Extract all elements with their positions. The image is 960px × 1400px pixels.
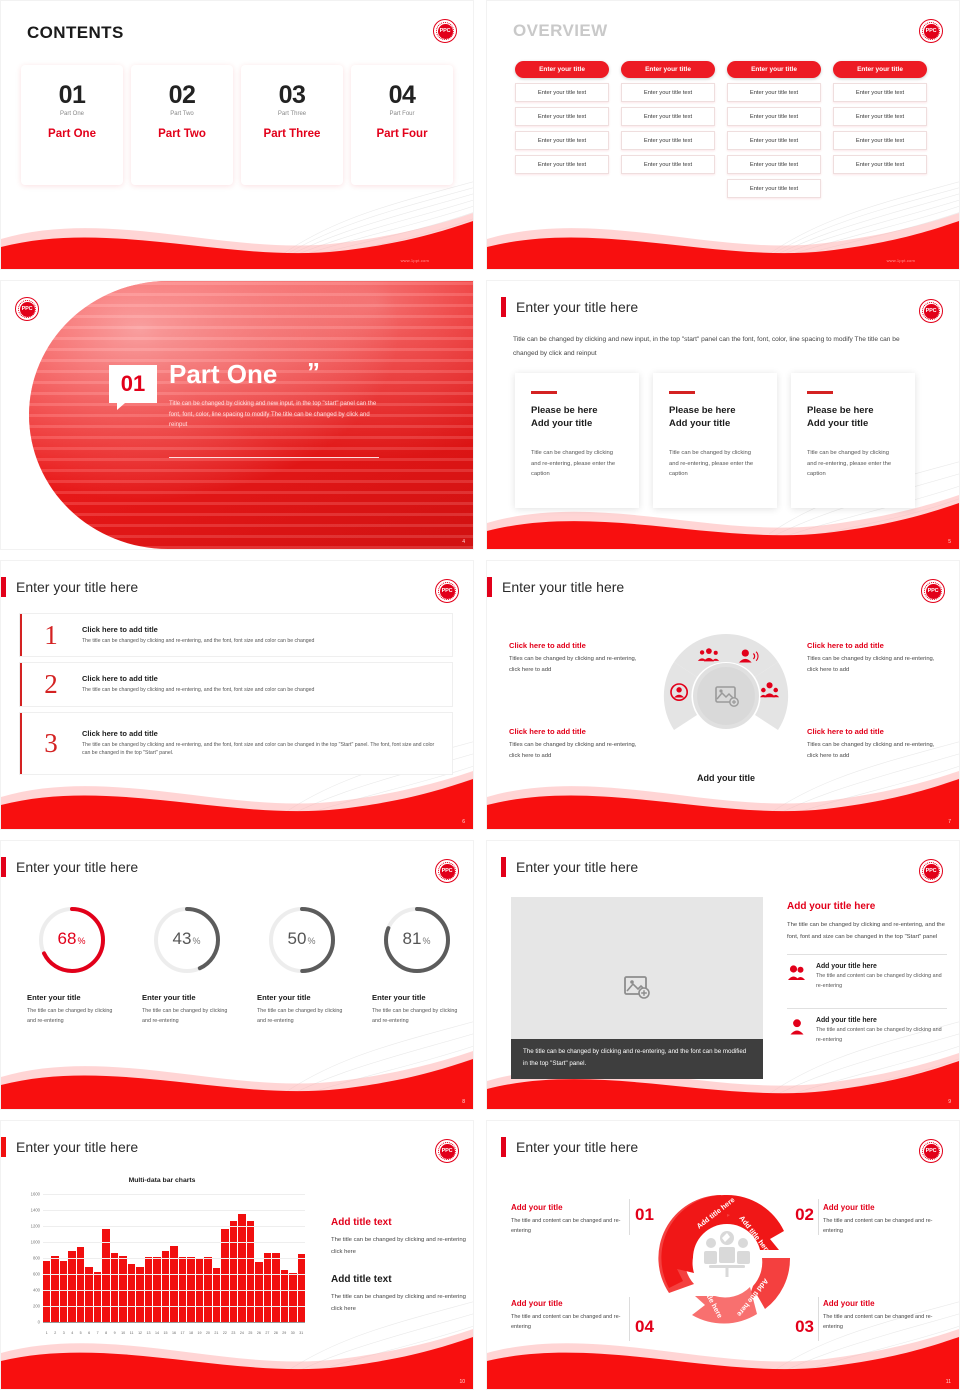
card-body: Title can be changed by clicking and re-…: [531, 448, 623, 480]
chart-x-tick: 1: [43, 1331, 50, 1335]
overview-cell[interactable]: Enter your title text: [621, 131, 715, 150]
ring-body: The title can be changed by clicking and…: [257, 1006, 351, 1026]
chart-bar: [264, 1253, 271, 1323]
chart-x-tick: 18: [187, 1331, 194, 1335]
column-title-pill[interactable]: Enter your title: [833, 61, 927, 78]
chart-bar: [213, 1268, 220, 1323]
card-subtitle: Part Two: [170, 111, 194, 117]
chart-y-tick: 200: [33, 1304, 40, 1309]
column-title-pill[interactable]: Enter your title: [515, 61, 609, 78]
overview-cell[interactable]: Enter your title text: [833, 83, 927, 102]
callout-body: Titles can be changed by clicking and re…: [807, 740, 945, 763]
card-title: Part Three: [264, 128, 321, 140]
chart-bar: [136, 1267, 143, 1323]
info-card[interactable]: Please be hereAdd your title Title can b…: [515, 373, 639, 508]
chart-bars: [43, 1195, 305, 1323]
card-accent-dash: [531, 391, 557, 394]
row-heading: Click here to add title: [82, 625, 444, 634]
chart-x-tick: 14: [153, 1331, 160, 1335]
image-caption: The title can be changed by clicking and…: [511, 1039, 763, 1079]
page-number: 6: [462, 819, 465, 825]
title-accent-bar: [501, 1137, 506, 1157]
contents-card[interactable]: 03 Part Three Part Three: [241, 65, 343, 185]
page-number: 8: [462, 1099, 465, 1105]
watermark: www.1ppt.com: [401, 258, 429, 263]
slide-image-and-list[interactable]: Enter your title here PPC The title can …: [486, 840, 960, 1110]
progress-ring-item[interactable]: 68% Enter your title The title can be ch…: [15, 903, 128, 1026]
progress-ring: 81%: [380, 903, 454, 977]
chart-bar: [128, 1264, 135, 1323]
progress-ring: 68%: [35, 903, 109, 977]
cycle-callout-02[interactable]: Add your title The title and content can…: [823, 1203, 941, 1237]
card-number: 01: [59, 81, 86, 110]
chart-x-tick: 21: [213, 1331, 220, 1335]
slide-progress-rings[interactable]: Enter your title here PPC 68% Enter your…: [0, 840, 474, 1110]
numbered-row[interactable]: 1 Click here to add title The title can …: [19, 613, 453, 657]
slide-cycle-diagram[interactable]: Enter your title here PPC Add your title…: [486, 1120, 960, 1390]
chart-y-tick: 0: [38, 1320, 40, 1325]
lead-paragraph: Title can be changed by clicking and new…: [513, 333, 923, 361]
chart-x-tick: 5: [77, 1331, 84, 1335]
chart-x-tick: 2: [51, 1331, 58, 1335]
info-card[interactable]: Please be hereAdd your title Title can b…: [653, 373, 777, 508]
callout-heading: Click here to add title: [509, 641, 647, 650]
chart-baseline: [43, 1322, 305, 1323]
two-people-icon: [760, 682, 779, 697]
chart-bar: [272, 1253, 279, 1323]
page-title: Enter your title here: [16, 859, 138, 875]
block-body: The title can be changed by clicking and…: [331, 1291, 471, 1315]
chart-x-tick: 16: [170, 1331, 177, 1335]
page-title: Enter your title here: [16, 579, 138, 595]
radial-callout-top-right[interactable]: Click here to add title Titles can be ch…: [807, 641, 945, 677]
section-body: Title can be changed by clicking and new…: [169, 399, 381, 431]
cycle-callout-04[interactable]: Add your title The title and content can…: [511, 1299, 629, 1333]
card-subtitle: Part One: [60, 111, 84, 117]
chart-x-tick: 9: [111, 1331, 118, 1335]
overview-cell[interactable]: Enter your title text: [515, 83, 609, 102]
chart-x-tick: 3: [60, 1331, 67, 1335]
card-title: Part One: [48, 128, 96, 140]
chart-gridline: 800: [43, 1258, 305, 1259]
overview-cell[interactable]: Enter your title text: [833, 107, 927, 126]
contents-card[interactable]: 04 Part Four Part Four: [351, 65, 453, 185]
brand-logo: PPC: [15, 297, 39, 321]
callout-body: Titles can be changed by clicking and re…: [807, 654, 945, 677]
side-text-blocks: Add title text The title can be changed …: [331, 1217, 471, 1315]
side-list-item[interactable]: Add your title here The title and conten…: [787, 963, 947, 998]
brand-logo: PPC: [433, 19, 457, 43]
segment-label: Add title here: [695, 1275, 725, 1320]
contents-card[interactable]: 02 Part Two Part Two: [131, 65, 233, 185]
chart-bar: [94, 1272, 101, 1323]
side-heading: Add your title here: [787, 901, 947, 912]
row-number: 2: [20, 672, 82, 696]
chart-x-tick: 17: [179, 1331, 186, 1335]
brand-logo: PPC: [435, 1139, 459, 1163]
card-body: Title can be changed by clicking and re-…: [807, 448, 899, 480]
side-body: The title can be changed by clicking and…: [787, 919, 947, 944]
callout-body: The title and content can be changed and…: [511, 1216, 629, 1237]
cycle-number-03: 03: [795, 1317, 814, 1337]
divider-line: [169, 457, 379, 458]
row-number: 3: [20, 731, 82, 755]
radial-icons: [659, 629, 793, 763]
info-card[interactable]: Please be hereAdd your title Title can b…: [791, 373, 915, 508]
overview-column: Enter your title Enter your title text E…: [621, 61, 715, 198]
title-accent-bar: [1, 857, 6, 877]
brand-logo: PPC: [919, 859, 943, 883]
card-accent-dash: [807, 391, 833, 394]
chart-x-tick: 31: [298, 1331, 305, 1335]
page-title: Enter your title here: [516, 859, 638, 875]
column-title-pill[interactable]: Enter your title: [727, 61, 821, 78]
chart-bar: [289, 1273, 296, 1323]
chart-plot-area: 02004006008001000120014001600: [43, 1195, 305, 1323]
brand-logo: PPC: [919, 19, 943, 43]
row-number: 1: [20, 623, 82, 647]
card-heading: Please be hereAdd your title: [531, 404, 623, 432]
page-number: 11: [946, 1379, 951, 1385]
chart-gridline: 1600: [43, 1194, 305, 1195]
callout-heading: Add your title: [511, 1299, 629, 1308]
chart-gridline: 600: [43, 1274, 305, 1275]
overview-cell[interactable]: Enter your title text: [515, 107, 609, 126]
slide-overview[interactable]: OVERVIEW PPC Enter your title Enter your…: [486, 0, 960, 270]
slide-radial-diagram[interactable]: Enter your title here PPC Click here to …: [486, 560, 960, 830]
cycle-segment-labels: Add title here Add title here Add title …: [647, 1183, 807, 1333]
page-number: 9: [948, 1099, 951, 1105]
callout-body: Titles can be changed by clicking and re…: [509, 654, 647, 677]
page-number: 5: [948, 539, 951, 545]
brand-logo: PPC: [919, 1139, 943, 1163]
title-accent-bar: [487, 577, 492, 597]
list-item-heading: Add your title here: [816, 963, 947, 970]
cycle-number-01: 01: [635, 1205, 654, 1225]
page-number: 4: [462, 539, 465, 545]
ring-unit: %: [422, 936, 430, 946]
cycle-wheel[interactable]: Add title here Add title here Add title …: [647, 1183, 807, 1333]
callout-body: The title and content can be changed and…: [823, 1216, 941, 1237]
ring-value: 43: [173, 929, 192, 949]
ring-body: The title can be changed by clicking and…: [372, 1006, 466, 1026]
ring-heading: Enter your title: [372, 993, 466, 1002]
chart-bar: [298, 1254, 305, 1323]
chart-y-tick: 1200: [31, 1224, 40, 1229]
chart-x-tick: 12: [136, 1331, 143, 1335]
cycle-callout-03[interactable]: Add your title The title and content can…: [823, 1299, 941, 1333]
progress-ring-item[interactable]: 50% Enter your title The title can be ch…: [245, 903, 358, 1026]
list-item-heading: Add your title here: [816, 1017, 947, 1024]
chart-x-tick: 30: [289, 1331, 296, 1335]
radial-callout-bottom-right[interactable]: Click here to add title Titles can be ch…: [807, 727, 945, 763]
card-body: Title can be changed by clicking and re-…: [669, 448, 761, 480]
text-block: Add title text The title can be changed …: [331, 1217, 471, 1258]
ring-heading: Enter your title: [27, 993, 121, 1002]
divider-line: [787, 954, 947, 955]
callout-body: The title and content can be changed and…: [823, 1312, 941, 1333]
card-accent-dash: [669, 391, 695, 394]
contents-card[interactable]: 01 Part One Part One: [21, 65, 123, 185]
page-title: Enter your title here: [502, 579, 624, 595]
ring-body: The title can be changed by clicking and…: [27, 1006, 121, 1026]
page-title: Enter your title here: [516, 1139, 638, 1155]
ring-unit: %: [192, 936, 200, 946]
chart-x-tick: 13: [145, 1331, 152, 1335]
title-accent-bar: [1, 577, 6, 597]
segment-label: Add title here: [695, 1195, 737, 1230]
numbered-row-list: 1 Click here to add title The title can …: [19, 613, 453, 780]
ring-unit: %: [307, 936, 315, 946]
wave-decoration: [487, 759, 959, 829]
numbered-row[interactable]: 3 Click here to add title The title can …: [19, 712, 453, 776]
slide-numbered-list[interactable]: Enter your title here PPC 1 Click here t…: [0, 560, 474, 830]
card-heading: Please be hereAdd your title: [807, 404, 899, 432]
ring-value: 68: [58, 929, 77, 949]
card-number: 02: [169, 81, 196, 110]
add-image-icon: [622, 975, 652, 1001]
chart-x-tick: 24: [238, 1331, 245, 1335]
row-body: The title can be changed by clicking and…: [82, 686, 444, 695]
segment-label: Add title here: [735, 1277, 770, 1319]
chart-gridline: 1200: [43, 1226, 305, 1227]
overview-cell[interactable]: Enter your title text: [621, 83, 715, 102]
chart-x-tick: 25: [247, 1331, 254, 1335]
chart-x-tick: 28: [272, 1331, 279, 1335]
chart-y-tick: 1600: [31, 1192, 40, 1197]
list-item-body: The title and content can be changed by …: [816, 1026, 947, 1045]
numbered-row[interactable]: 2 Click here to add title The title can …: [19, 662, 453, 706]
row-heading: Click here to add title: [82, 674, 444, 683]
chart-bar: [196, 1259, 203, 1323]
card-heading: Please be hereAdd your title: [669, 404, 761, 432]
overview-cell[interactable]: Enter your title text: [833, 155, 927, 174]
callout-heading: Add your title: [823, 1203, 941, 1212]
chart-x-tick: 20: [204, 1331, 211, 1335]
overview-cell[interactable]: Enter your title text: [515, 155, 609, 174]
slide-section-divider[interactable]: PPC 01 Part One ” Title can be changed b…: [0, 280, 474, 550]
card-title: Part Two: [158, 128, 206, 140]
overview-cell[interactable]: Enter your title text: [727, 83, 821, 102]
side-panel: Add your title here The title can be cha…: [787, 901, 947, 1053]
list-item-body: The title and content can be changed by …: [816, 972, 947, 991]
ring-heading: Enter your title: [142, 993, 236, 1002]
progress-ring-item[interactable]: 81% Enter your title The title can be ch…: [360, 903, 473, 1026]
overview-column: Enter your title Enter your title text E…: [727, 61, 821, 198]
card-number: 03: [279, 81, 306, 110]
overview-cell[interactable]: Enter your title text: [727, 179, 821, 198]
overview-cell[interactable]: Enter your title text: [727, 155, 821, 174]
page-title: Enter your title here: [16, 1139, 138, 1155]
ring-value: 50: [288, 929, 307, 949]
chart-x-tick: 15: [162, 1331, 169, 1335]
title-accent-bar: [501, 857, 506, 877]
block-heading: Add title text: [331, 1274, 471, 1285]
callout-heading: Add your title: [511, 1203, 629, 1212]
chart-x-tick: 22: [221, 1331, 228, 1335]
cycle-number-04: 04: [635, 1317, 654, 1337]
radial-callout-top-left[interactable]: Click here to add title Titles can be ch…: [509, 641, 647, 677]
callout-body: Titles can be changed by clicking and re…: [509, 740, 647, 763]
chart-y-tick: 1000: [31, 1240, 40, 1245]
divider-line: [629, 1199, 630, 1235]
block-heading: Add title text: [331, 1217, 471, 1228]
ring-body: The title can be changed by clicking and…: [142, 1006, 236, 1026]
card-subtitle: Part Four: [389, 111, 414, 117]
divider-line: [787, 1008, 947, 1009]
chart-x-tick: 7: [94, 1331, 101, 1335]
card-subtitle: Part Three: [278, 111, 306, 117]
chart-gridline: 200: [43, 1306, 305, 1307]
title-accent-bar: [501, 297, 506, 317]
page-number: 7: [948, 819, 951, 825]
overview-cell[interactable]: Enter your title text: [833, 131, 927, 150]
chart-bar: [60, 1261, 67, 1323]
ring-heading: Enter your title: [257, 993, 351, 1002]
card-title: Part Four: [376, 128, 427, 140]
chart-x-tick: 8: [102, 1331, 109, 1335]
block-body: The title can be changed by clicking and…: [331, 1234, 471, 1258]
progress-ring: 50%: [265, 903, 339, 977]
ring-unit: %: [77, 936, 85, 946]
page-title: Enter your title here: [516, 299, 638, 315]
person-circle-icon: [671, 684, 687, 700]
cycle-number-02: 02: [795, 1205, 814, 1225]
wheel-center-label: Add your title: [659, 773, 793, 783]
cycle-callout-01[interactable]: Add your title The title and content can…: [511, 1203, 629, 1237]
text-block: Add title text The title can be changed …: [331, 1274, 471, 1315]
overview-cell[interactable]: Enter your title text: [515, 131, 609, 150]
progress-ring: 43%: [150, 903, 224, 977]
chart-bar: [43, 1261, 50, 1323]
single-person-icon: [787, 1017, 807, 1035]
ring-list: 68% Enter your title The title can be ch…: [15, 903, 473, 1026]
chart-x-tick: 23: [230, 1331, 237, 1335]
divider-line: [818, 1199, 819, 1235]
side-list-item[interactable]: Add your title here The title and conten…: [787, 1017, 947, 1052]
chart-bar: [247, 1221, 254, 1323]
overview-cell[interactable]: Enter your title text: [621, 107, 715, 126]
chart-x-tick: 11: [128, 1331, 135, 1335]
chart-y-tick: 1400: [31, 1208, 40, 1213]
person-speaking-icon: [739, 649, 758, 662]
overview-column: Enter your title Enter your title text E…: [833, 61, 927, 198]
contents-card-list: 01 Part One Part One 02 Part Two Part Tw…: [21, 65, 453, 185]
watermark: www.1ppt.com: [887, 258, 915, 263]
quote-mark-icon: ”: [307, 357, 320, 388]
bar-chart: Multi-data bar charts 020040060080010001…: [15, 1177, 309, 1345]
chart-bar: [85, 1267, 92, 1323]
chart-title: Multi-data bar charts: [15, 1177, 309, 1184]
chart-x-tick: 4: [68, 1331, 75, 1335]
card-number: 04: [389, 81, 416, 110]
chart-x-tick: 19: [196, 1331, 203, 1335]
slide-three-cards[interactable]: Enter your title here PPC Title can be c…: [486, 280, 960, 550]
section-number: 01: [109, 365, 157, 403]
slide-deck: CONTENTS PPC 01 Part One Part One 02 Par…: [0, 0, 960, 1390]
row-body: The title can be changed by clicking and…: [82, 741, 444, 759]
page-title: CONTENTS: [27, 23, 124, 43]
divider-line: [818, 1297, 819, 1341]
section-title: Part One: [169, 359, 277, 390]
chart-bar: [111, 1253, 118, 1323]
callout-body: The title and content can be changed and…: [511, 1312, 629, 1333]
callout-heading: Click here to add title: [807, 727, 945, 736]
chart-bar: [230, 1221, 237, 1323]
wave-decoration: [1, 1039, 473, 1109]
page-title: OVERVIEW: [513, 21, 608, 41]
callout-heading: Add your title: [823, 1299, 941, 1308]
chart-bar: [255, 1262, 262, 1323]
chart-x-tick: 27: [264, 1331, 271, 1335]
two-people-icon: [787, 963, 807, 981]
overview-cell[interactable]: Enter your title text: [727, 131, 821, 150]
chart-x-tick: 26: [255, 1331, 262, 1335]
chart-x-tick: 6: [85, 1331, 92, 1335]
chart-gridline: 400: [43, 1290, 305, 1291]
callout-heading: Click here to add title: [509, 727, 647, 736]
row-heading: Click here to add title: [82, 729, 444, 738]
page-number: 10: [459, 1379, 465, 1385]
card-list: Please be hereAdd your title Title can b…: [515, 373, 915, 508]
chart-gridline: 1400: [43, 1210, 305, 1211]
radial-wheel[interactable]: [659, 629, 793, 763]
overview-columns: Enter your title Enter your title text E…: [515, 61, 927, 198]
brand-logo: PPC: [435, 579, 459, 603]
progress-ring-item[interactable]: 43% Enter your title The title can be ch…: [130, 903, 243, 1026]
radial-callout-bottom-left[interactable]: Click here to add title Titles can be ch…: [509, 727, 647, 763]
brand-logo: PPC: [435, 859, 459, 883]
chart-y-tick: 800: [33, 1256, 40, 1261]
brand-logo: PPC: [921, 579, 945, 603]
group-people-icon: [698, 648, 719, 661]
divider-line: [629, 1297, 630, 1341]
chart-x-axis: 1234567891011121314151617181920212223242…: [43, 1331, 305, 1335]
chart-bar: [281, 1270, 288, 1323]
chart-y-tick: 400: [33, 1288, 40, 1293]
chart-bar: [162, 1251, 169, 1323]
overview-cell[interactable]: Enter your title text: [621, 155, 715, 174]
chart-gridline: 1000: [43, 1242, 305, 1243]
column-title-pill[interactable]: Enter your title: [621, 61, 715, 78]
row-body: The title can be changed by clicking and…: [82, 637, 444, 646]
ring-value: 81: [403, 929, 422, 949]
brand-logo: PPC: [919, 299, 943, 323]
title-accent-bar: [1, 1137, 6, 1157]
chart-y-tick: 600: [33, 1272, 40, 1277]
overview-cell[interactable]: Enter your title text: [727, 107, 821, 126]
callout-heading: Click here to add title: [807, 641, 945, 650]
slide-contents[interactable]: CONTENTS PPC 01 Part One Part One 02 Par…: [0, 0, 474, 270]
chart-x-tick: 29: [281, 1331, 288, 1335]
chart-x-tick: 10: [119, 1331, 126, 1335]
slide-bar-chart[interactable]: Enter your title here PPC Multi-data bar…: [0, 1120, 474, 1390]
overview-column: Enter your title Enter your title text E…: [515, 61, 609, 198]
chart-bar: [68, 1251, 75, 1323]
segment-label: Add title here: [737, 1214, 772, 1256]
